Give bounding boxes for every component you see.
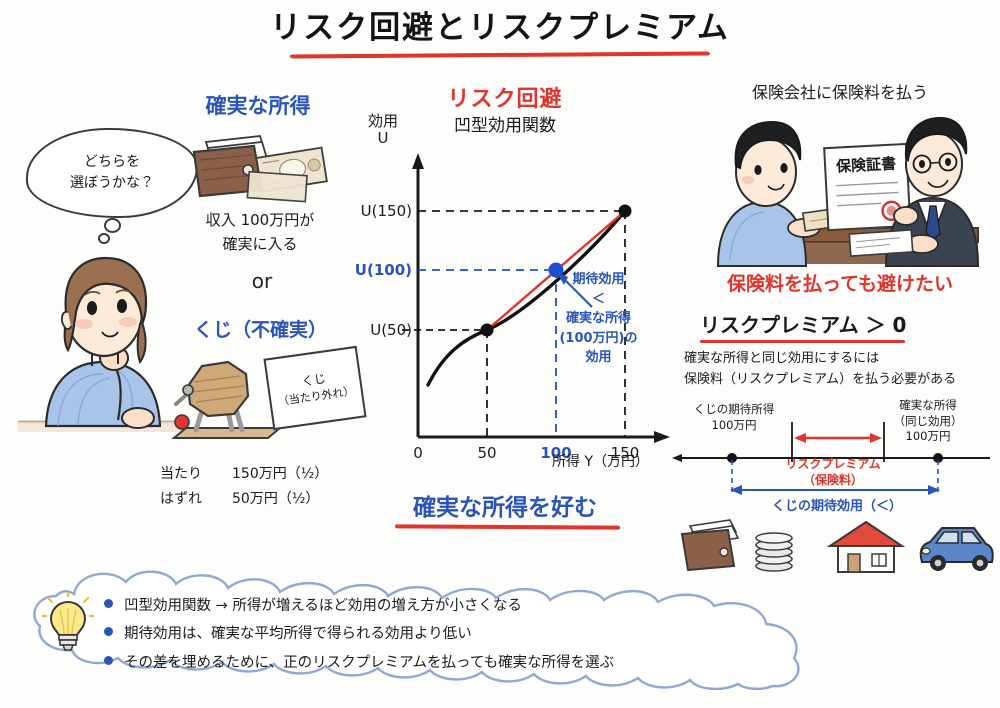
summary-item-text: 期待効用は、確実な平均所得で得られる効用より低い [124, 620, 472, 648]
avoid-risk-label: 保険料を払っても避けたい [690, 272, 990, 298]
title-underline [290, 51, 710, 58]
prefer-certain-underline [395, 524, 620, 529]
coins-icon [756, 533, 792, 571]
insurance-scene-illustration: 保険証書 [700, 110, 980, 270]
certain-income-caption: 収入 100万円が 確実に入る [170, 208, 350, 256]
y-tick-label-u150: U(150) [340, 201, 412, 221]
outcome-name: 当たり [160, 462, 232, 487]
infographic-page: リスク回避とリスクプレミアム どちらを 選ぼうかな？ [0, 0, 1000, 708]
y-tick-label-u100: U(100) [340, 260, 412, 280]
lightbulb-icon [42, 592, 94, 654]
risk-premium-arrow-label: リスクプレミアム （保険料） [768, 456, 898, 488]
bullet-icon [104, 627, 113, 636]
or-separator: or [222, 268, 302, 295]
prefer-certain-income-label: 確実な所得を好む [350, 493, 660, 524]
insurance-caption: 保険会社に保険料を払う [690, 82, 990, 104]
thought-bubble-text: どちらを 選ぼうかな？ [70, 152, 154, 194]
certain-income-label: 確実な所得 [178, 92, 338, 120]
wallet-and-bills-illustration [186, 130, 336, 210]
expected-utility-label: くじの期待効用（＜） [742, 498, 932, 516]
risk-premium-underline [700, 340, 905, 343]
thought-bubble-dot-small [98, 233, 110, 244]
lottery-label: くじ（不確実） [178, 318, 343, 344]
wallet-icon [682, 520, 738, 570]
thought-bubble: どちらを 選ぼうかな？ [26, 128, 198, 218]
summary-item: 凹型効用関数 → 所得が増えるほど効用の増え方が小さくなる [104, 592, 834, 620]
insurance-document-title: 保険証書 [835, 155, 897, 176]
summary-item: その差を埋めるために、正のリスクプレミアムを払っても確実な所得を選ぶ [104, 649, 834, 677]
house-icon [830, 522, 902, 572]
thinking-woman-illustration [18, 250, 188, 450]
x-tick-label-50: 50 [467, 443, 507, 463]
summary-item-text: その差を埋めるために、正のリスクプレミアムを払っても確実な所得を選ぶ [124, 649, 614, 677]
y-tick-label-u50: U(50) [340, 320, 412, 340]
chart-annotation-expected-utility: 期待効用 ＜ 確実な所得 (100万円)の 効用 [536, 270, 661, 368]
risk-premium-headline: リスクプレミアム ＞ 0 [700, 312, 980, 339]
bullet-icon [104, 599, 113, 608]
x-tick-label-0: 0 [398, 443, 438, 463]
car-icon [921, 528, 993, 571]
x-axis-label: 所得 Y（万円） [552, 453, 672, 472]
risk-premium-number-line: くじの期待所得 100万円 確実な所得 （同じ効用） 100万円 [672, 400, 998, 520]
outcome-name: はずれ [160, 487, 232, 512]
summary-item-text: 凹型効用関数 → 所得が増えるほど効用の増え方が小さくなる [124, 592, 522, 620]
summary-list: 凹型効用関数 → 所得が増えるほど効用の増え方が小さくなる 期待効用は、確実な平… [104, 592, 834, 677]
bullet-icon [104, 656, 113, 665]
page-title: リスク回避とリスクプレミアム [0, 8, 1000, 50]
risk-premium-caption: 確実な所得と同じ効用にするには 保険料（リスクプレミアム）を払う必要がある [684, 348, 994, 391]
summary-item: 期待効用は、確実な平均所得で得られる効用より低い [104, 620, 834, 648]
utility-function-chart: リスク回避 凹型効用関数 効用 U [340, 85, 670, 505]
page-title-block: リスク回避とリスクプレミアム [0, 8, 1000, 57]
thought-bubble-dot-large [104, 218, 121, 233]
